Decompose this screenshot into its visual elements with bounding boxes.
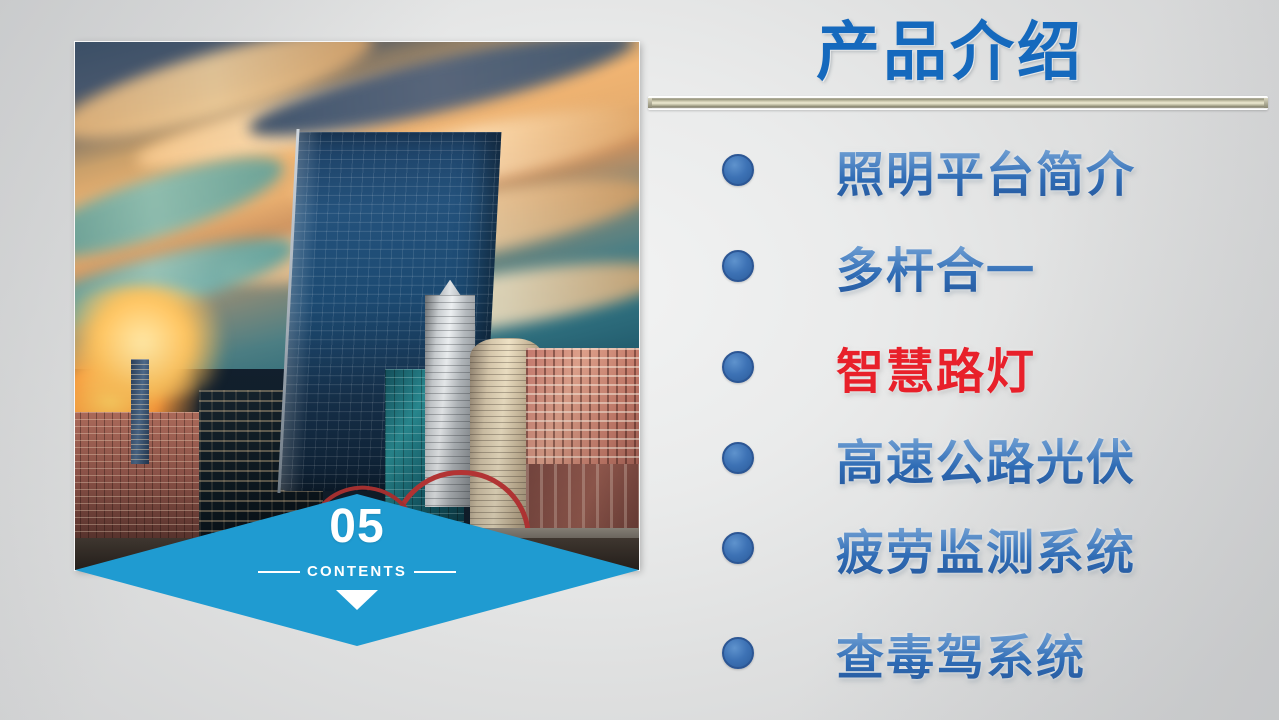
list-item-label: 高速公路光伏 <box>836 423 1136 493</box>
contents-rule-right <box>414 571 456 573</box>
list-item-label: 多杆合一 <box>836 231 1036 301</box>
title-divider <box>648 96 1268 110</box>
list-item-label: 照明平台简介 <box>836 135 1136 205</box>
list-item-highlighted[interactable]: 智慧路灯 <box>640 331 1279 403</box>
list-item-label: 查毒驾系统 <box>836 618 1086 688</box>
agenda-list: 照明平台简介 多杆合一 智慧路灯 高速公路光伏 疲劳监测系统 查毒驾系统 <box>640 120 1279 710</box>
list-item-label: 疲劳监测系统 <box>836 513 1136 583</box>
list-item[interactable]: 照明平台简介 <box>640 134 1279 206</box>
bullet-icon <box>722 637 754 669</box>
bullet-icon <box>722 532 754 564</box>
list-item[interactable]: 多杆合一 <box>640 230 1279 302</box>
contents-rule-left <box>258 571 300 573</box>
photo-vignette <box>75 42 639 570</box>
bullet-icon <box>722 250 754 282</box>
city-photo-frame <box>75 42 639 570</box>
contents-number: 05 <box>329 503 384 551</box>
contents-label: CONTENTS <box>307 563 407 580</box>
slide-canvas: 05 CONTENTS 产品介绍 照明平台简介 多杆合一 智慧路灯 高速公路光伏 <box>0 0 1279 720</box>
triangle-down-icon <box>336 590 378 610</box>
page-title: 产品介绍 <box>640 4 1260 90</box>
bullet-icon <box>722 154 754 186</box>
list-item[interactable]: 疲劳监测系统 <box>640 512 1279 584</box>
city-skyline-photo <box>75 42 639 570</box>
bullet-icon <box>722 442 754 474</box>
contents-badge: 05 CONTENTS <box>75 494 639 646</box>
contents-label-row: CONTENTS <box>258 563 456 580</box>
list-item[interactable]: 高速公路光伏 <box>640 422 1279 494</box>
list-item[interactable]: 查毒驾系统 <box>640 617 1279 689</box>
page-title-text: 产品介绍 <box>816 1 1084 93</box>
list-item-label: 智慧路灯 <box>836 332 1036 402</box>
bullet-icon <box>722 351 754 383</box>
